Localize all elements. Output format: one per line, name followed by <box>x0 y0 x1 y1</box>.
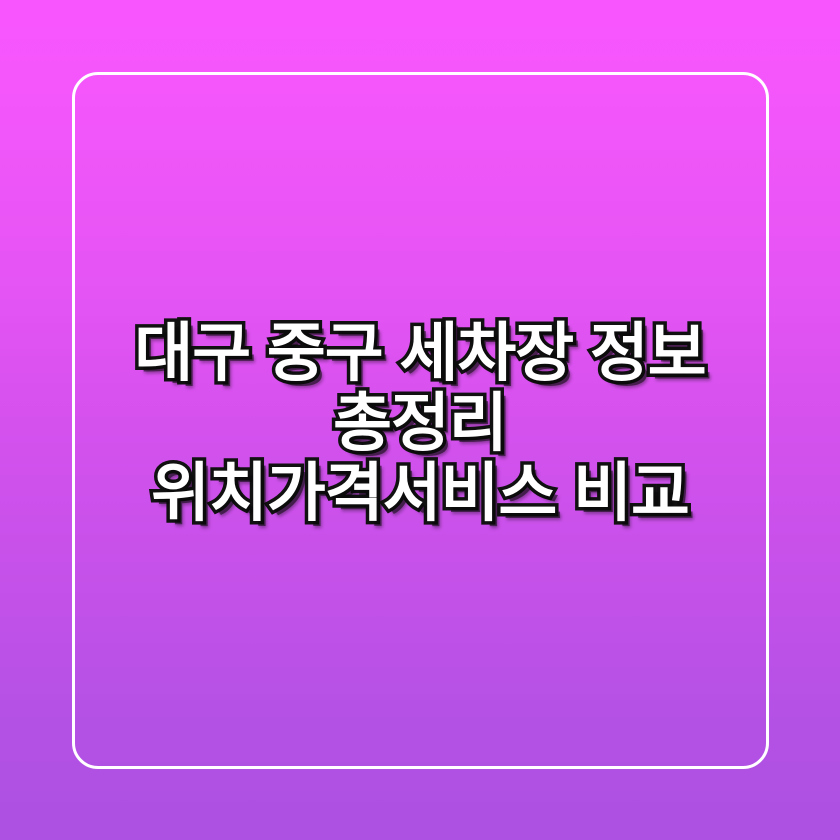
title-line-1: 대구 중구 세차장 정보 <box>80 318 760 388</box>
title-line-3: 위치가격서비스 비교 <box>80 458 760 528</box>
title-block: 대구 중구 세차장 정보 총정리 위치가격서비스 비교 <box>0 318 840 528</box>
title-line-2: 총정리 <box>80 388 760 458</box>
thumbnail-canvas: 대구 중구 세차장 정보 총정리 위치가격서비스 비교 <box>0 0 840 840</box>
